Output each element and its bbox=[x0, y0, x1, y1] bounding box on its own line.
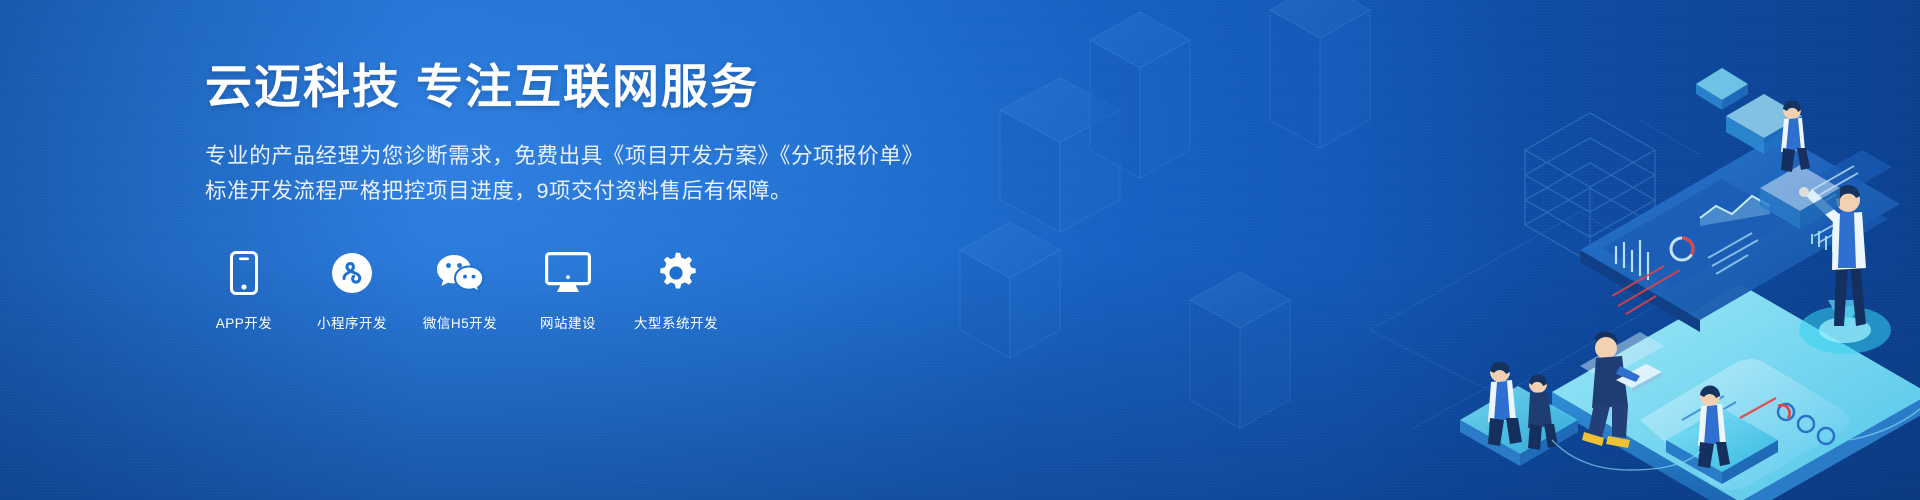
page-title: 云迈科技 专注互联网服务 bbox=[205, 62, 925, 113]
illustration-isometric-dashboard bbox=[940, 0, 1920, 500]
banner-content: 云迈科技 专注互联网服务 专业的产品经理为您诊断需求，免费出具《项目开发方案》《… bbox=[205, 62, 925, 332]
mini-program-icon bbox=[331, 250, 373, 296]
platform-left-people bbox=[1460, 361, 1578, 466]
hero-banner: 云迈科技 专注互联网服务 专业的产品经理为您诊断需求，免费出具《项目开发方案》《… bbox=[0, 0, 1920, 500]
subtitle-line-1: 专业的产品经理为您诊断需求，免费出具《项目开发方案》《分项报价单》 bbox=[205, 139, 925, 174]
tablet-device bbox=[1552, 284, 1920, 500]
service-label: 小程序开发 bbox=[317, 312, 387, 332]
mobile-phone-icon bbox=[230, 250, 258, 296]
platform-upper-right bbox=[1696, 68, 1840, 229]
monitor-icon bbox=[545, 250, 591, 296]
data-sheet bbox=[1640, 359, 1849, 490]
service-label: 大型系统开发 bbox=[634, 312, 718, 332]
banner-subtitle: 专业的产品经理为您诊断需求，免费出具《项目开发方案》《分项报价单》 标准开发流程… bbox=[205, 139, 925, 209]
service-list: APP开发 小程序开发 bbox=[205, 250, 925, 332]
wechat-bubbles-icon bbox=[436, 250, 484, 296]
gear-icon bbox=[654, 250, 698, 296]
service-label: 微信H5开发 bbox=[423, 312, 497, 332]
service-item-app[interactable]: APP开发 bbox=[205, 250, 283, 332]
dashboard-screen bbox=[1580, 134, 1900, 332]
person-standing-presenter bbox=[1799, 185, 1891, 354]
platform-right-person bbox=[1666, 385, 1778, 484]
service-item-website[interactable]: 网站建设 bbox=[529, 250, 607, 332]
service-item-large-system[interactable]: 大型系统开发 bbox=[637, 250, 715, 332]
connector-wires bbox=[1552, 400, 1920, 470]
subtitle-line-2: 标准开发流程严格把控项目进度，9项交付资料售后有保障。 bbox=[205, 174, 925, 209]
person-seated-laptop bbox=[1580, 332, 1664, 448]
service-item-miniprogram[interactable]: 小程序开发 bbox=[313, 250, 391, 332]
background-blocks bbox=[960, 0, 1700, 430]
service-item-wechat-h5[interactable]: 微信H5开发 bbox=[421, 250, 499, 332]
service-label: APP开发 bbox=[216, 312, 273, 332]
service-label: 网站建设 bbox=[540, 312, 596, 332]
